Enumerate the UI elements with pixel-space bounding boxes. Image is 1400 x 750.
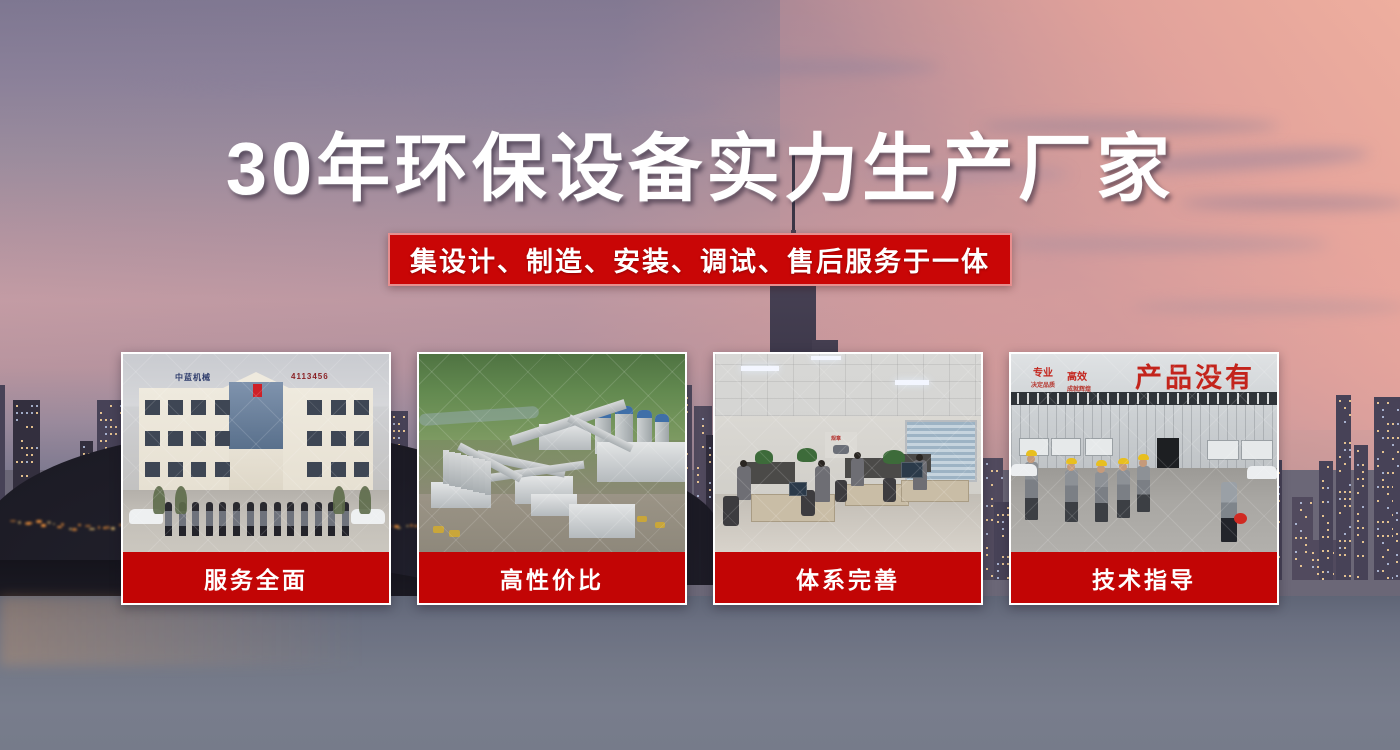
factory-window — [1051, 438, 1081, 456]
cloud — [420, 96, 720, 116]
card-caption-text: 体系完善 — [796, 561, 900, 595]
roof-rail — [1207, 393, 1209, 404]
street-light — [105, 526, 110, 529]
window-light — [1396, 575, 1398, 577]
window-light — [1397, 451, 1399, 453]
street-light — [111, 527, 115, 530]
window-light — [1349, 484, 1351, 486]
window-light — [1392, 472, 1394, 474]
window-light — [1322, 515, 1324, 517]
window-light — [1339, 400, 1341, 402]
staff-figure — [165, 502, 172, 536]
window-light — [1339, 491, 1341, 493]
window-light — [1300, 502, 1302, 504]
building-window — [168, 462, 183, 477]
window-light — [1387, 493, 1389, 495]
window-light — [36, 412, 38, 414]
window-light — [110, 433, 112, 435]
hard-hat — [1118, 458, 1129, 464]
roof-rail — [1267, 393, 1269, 404]
staff-figure — [315, 502, 322, 536]
street-light — [28, 522, 33, 525]
red-helmet — [1234, 513, 1247, 524]
window-light — [1396, 512, 1398, 514]
window-light — [1339, 498, 1341, 500]
roof-rail — [1087, 393, 1089, 404]
roof-rail — [1227, 393, 1229, 404]
window-light — [1377, 500, 1379, 502]
window-light — [1349, 442, 1351, 444]
window-light — [36, 447, 38, 449]
window-light — [1397, 409, 1399, 411]
office-desk — [845, 484, 909, 506]
hard-hat — [1026, 450, 1037, 456]
window-light — [1357, 534, 1359, 536]
window-light — [26, 454, 28, 456]
office-chair — [723, 496, 739, 526]
card-caption-bar: 技术指导 — [1011, 552, 1277, 603]
tree — [359, 486, 371, 514]
hard-hat — [1096, 460, 1107, 466]
window-light — [1327, 487, 1329, 489]
wall-plaque: 规章 — [825, 432, 857, 458]
river-reflection — [0, 596, 520, 666]
window-light — [1339, 512, 1341, 514]
office-worker — [737, 466, 751, 500]
window-light — [1327, 522, 1329, 524]
window-light — [1310, 502, 1312, 504]
office-desk — [901, 480, 969, 502]
plant-building — [569, 504, 635, 538]
window-light — [1344, 540, 1346, 542]
window-light — [1377, 521, 1379, 523]
roof-rail — [1247, 393, 1249, 404]
window-light — [1392, 458, 1394, 460]
roof-rail — [1147, 393, 1149, 404]
roof-rail — [1137, 393, 1139, 404]
card-caption-bar: 体系完善 — [715, 552, 981, 603]
office-chair — [883, 478, 896, 502]
window-light — [31, 454, 33, 456]
window-light — [1322, 550, 1324, 552]
roof-rail — [1237, 393, 1239, 404]
building-window — [215, 462, 230, 477]
window-light — [1387, 535, 1389, 537]
building-window — [168, 400, 183, 415]
window-light — [1382, 479, 1384, 481]
window-light — [31, 412, 33, 414]
window-light — [1387, 549, 1389, 551]
window-light — [1387, 437, 1389, 439]
building-window — [354, 462, 369, 477]
window-light — [1344, 505, 1346, 507]
tree — [153, 486, 165, 514]
window-light — [1349, 400, 1351, 402]
building-window — [191, 400, 206, 415]
window-light — [1397, 423, 1399, 425]
hard-hat — [1138, 454, 1149, 460]
building-window — [191, 431, 206, 446]
street-light — [98, 526, 100, 529]
window-light — [1357, 513, 1359, 515]
window-light — [1387, 423, 1389, 425]
window-light — [1396, 533, 1398, 535]
excavator — [637, 516, 647, 522]
window-light — [1382, 556, 1384, 558]
window-light — [1295, 523, 1297, 525]
window-light — [1349, 505, 1351, 507]
window-light — [1344, 449, 1346, 451]
staff-figure — [247, 502, 254, 536]
window-light — [1397, 437, 1399, 439]
window-light — [1300, 530, 1302, 532]
window-light — [1344, 407, 1346, 409]
window-light — [1382, 416, 1384, 418]
roof-rail — [1127, 393, 1129, 404]
silo-column — [485, 461, 491, 495]
window-light — [1382, 472, 1384, 474]
window-light — [1396, 540, 1398, 542]
window-light — [1344, 421, 1346, 423]
card-photo-headquarters: 中蓝机械 4113456 — [123, 354, 389, 552]
window-light — [1339, 456, 1341, 458]
building-window — [354, 400, 369, 415]
window-light — [1327, 529, 1329, 531]
window-light — [1322, 536, 1324, 538]
window-light — [1305, 544, 1307, 546]
window-light — [1387, 402, 1389, 404]
window-light — [105, 433, 107, 435]
factory-window — [1241, 440, 1273, 460]
window-light — [21, 475, 23, 477]
window-light — [26, 426, 28, 428]
window-light — [21, 461, 23, 463]
window-light — [1349, 575, 1351, 577]
factory-slogan-large: 产品没有 — [1135, 356, 1255, 395]
potted-plant — [755, 450, 773, 464]
window-light — [105, 426, 107, 428]
factory-window — [1207, 440, 1239, 460]
window-light — [1312, 552, 1314, 554]
window-light — [1392, 444, 1394, 446]
window-light — [1344, 442, 1346, 444]
building-window — [215, 400, 230, 415]
window-light — [1327, 536, 1329, 538]
building-window — [168, 431, 183, 446]
window-light — [1362, 506, 1364, 508]
window-light — [16, 405, 18, 407]
window-light — [1349, 414, 1351, 416]
cloud — [120, 70, 460, 88]
excavator — [655, 522, 665, 528]
card-caption-text: 技术指导 — [1092, 561, 1196, 595]
window-light — [1357, 492, 1359, 494]
feature-card-system[interactable]: 规章 体系完善 — [713, 352, 983, 605]
window-light — [1362, 527, 1364, 529]
street-light — [72, 528, 77, 531]
window-light — [16, 461, 18, 463]
window-light — [36, 405, 38, 407]
ceiling-light — [811, 356, 841, 360]
window-light — [1387, 486, 1389, 488]
worker-head — [1139, 459, 1147, 467]
flag — [253, 384, 262, 397]
roof-rail — [1107, 393, 1109, 404]
window-light — [1377, 402, 1379, 404]
worker-figure — [1137, 466, 1150, 512]
window-light — [1322, 571, 1324, 573]
window-light — [105, 440, 107, 442]
building-window — [307, 431, 322, 446]
ceiling-light — [895, 380, 929, 385]
window-light — [1344, 547, 1346, 549]
window-light — [1327, 557, 1329, 559]
roof-rail — [1077, 393, 1079, 404]
staff-figure — [233, 502, 240, 536]
window-light — [100, 440, 102, 442]
window-light — [1339, 470, 1341, 472]
roof-rail — [1047, 393, 1049, 404]
worker-head — [1097, 465, 1105, 473]
window-light — [1387, 507, 1389, 509]
feature-card-value[interactable]: 高性价比 — [417, 352, 687, 605]
window-light — [1387, 521, 1389, 523]
factory-window — [1085, 438, 1113, 456]
window-light — [105, 419, 107, 421]
window-light — [31, 426, 33, 428]
feature-card-service[interactable]: 中蓝机械 4113456 服务全面 — [121, 352, 391, 605]
window-light — [1322, 480, 1324, 482]
card-photo-training: 产品没有 专业 高效 决定品质 成就辉煌 — [1011, 354, 1277, 552]
window-light — [1344, 533, 1346, 535]
worker-figure — [1117, 470, 1130, 518]
window-light — [1344, 491, 1346, 493]
building — [1336, 395, 1351, 580]
worker-head — [740, 460, 747, 467]
staff-figure — [192, 502, 199, 536]
window-light — [26, 412, 28, 414]
worker-head — [1067, 463, 1075, 471]
building-window — [331, 431, 346, 446]
building — [1354, 445, 1369, 580]
window-light — [1377, 570, 1379, 572]
window-light — [1357, 520, 1359, 522]
ceiling-light — [741, 366, 779, 371]
building-window — [307, 462, 322, 477]
street-light — [61, 523, 63, 526]
window-light — [1382, 542, 1384, 544]
staff-figure — [287, 502, 294, 536]
factory-slogan-small-1: 专业 — [1033, 364, 1053, 379]
window-light — [1362, 555, 1364, 557]
window-light — [1382, 521, 1384, 523]
window-light — [1392, 423, 1394, 425]
window-light — [110, 419, 112, 421]
staff-figure — [274, 502, 281, 536]
window-light — [26, 447, 28, 449]
roof-rail — [1167, 393, 1169, 404]
window-light — [1322, 501, 1324, 503]
window-light — [1295, 551, 1297, 553]
window-light — [1344, 463, 1346, 465]
street-light — [41, 524, 46, 527]
window-light — [1362, 471, 1364, 473]
window-light — [31, 405, 33, 407]
window-light — [1357, 527, 1359, 529]
window-light — [1362, 464, 1364, 466]
window-light — [1344, 575, 1346, 577]
worker-figure — [1065, 470, 1078, 522]
window-light — [1362, 541, 1364, 543]
office-ceiling — [715, 354, 981, 416]
window-light — [1327, 550, 1329, 552]
street-light — [36, 520, 41, 523]
worker-head — [1119, 463, 1127, 471]
roof-rail — [1217, 393, 1219, 404]
computer-monitor — [789, 482, 807, 496]
window-light — [1377, 430, 1379, 432]
worker-head — [854, 452, 861, 459]
window-light — [1387, 472, 1389, 474]
office-chair — [835, 480, 847, 502]
parked-car — [1247, 466, 1277, 479]
building-window — [215, 431, 230, 446]
building-window — [145, 462, 160, 477]
building-window — [145, 431, 160, 446]
building-phone-text: 4113456 — [291, 372, 329, 381]
window-light — [1295, 537, 1297, 539]
staff-figure — [301, 502, 308, 536]
window-light — [1377, 486, 1379, 488]
building-sign-text: 中蓝机械 — [175, 372, 211, 383]
parked-car — [1011, 464, 1037, 476]
roof-rail — [1177, 393, 1179, 404]
window-light — [1349, 498, 1351, 500]
window-light — [1349, 456, 1351, 458]
window-light — [1397, 465, 1399, 467]
window-light — [1357, 450, 1359, 452]
window-light — [1339, 554, 1341, 556]
card-caption-text: 高性价比 — [500, 561, 604, 595]
window-light — [100, 419, 102, 421]
card-caption-text: 服务全面 — [204, 561, 308, 595]
worker-head — [818, 460, 825, 467]
plant-building — [597, 442, 685, 482]
window-light — [1305, 551, 1307, 553]
worker-figure — [1095, 472, 1108, 522]
window-light — [1387, 430, 1389, 432]
window-light — [31, 447, 33, 449]
building-window — [331, 400, 346, 415]
staff-figure — [260, 502, 267, 536]
office-worker — [851, 458, 864, 486]
excavator — [449, 530, 460, 537]
window-light — [1387, 577, 1389, 579]
roof-rail — [1157, 393, 1159, 404]
card-caption-bar: 服务全面 — [123, 552, 389, 603]
window-light — [1349, 449, 1351, 451]
building-window — [354, 431, 369, 446]
computer-monitor — [901, 462, 923, 478]
window-light — [1377, 465, 1379, 467]
window-light — [1382, 409, 1384, 411]
window-light — [1396, 554, 1398, 556]
window-light — [26, 475, 28, 477]
potted-plant — [797, 448, 817, 462]
building-window — [307, 400, 322, 415]
street-light — [18, 521, 21, 524]
banner-stage: 30年环保设备实力生产厂家 集设计、制造、安装、调试、售后服务于一体 中蓝机械 … — [0, 0, 1400, 750]
window-light — [1396, 519, 1398, 521]
card-photo-office: 规章 — [715, 354, 981, 552]
window-light — [83, 446, 85, 448]
building-window — [191, 462, 206, 477]
window-light — [1295, 558, 1297, 560]
staff-figure — [206, 502, 213, 536]
window-light — [31, 461, 33, 463]
window-light — [1300, 537, 1302, 539]
window-light — [1357, 576, 1359, 578]
excavator — [433, 526, 444, 533]
building-window — [331, 462, 346, 477]
window-light — [21, 447, 23, 449]
roof-rail — [1037, 393, 1039, 404]
window-light — [21, 412, 23, 414]
window-light — [1396, 561, 1398, 563]
roof-rail — [1067, 393, 1069, 404]
window-light — [1300, 509, 1302, 511]
factory-door — [1157, 438, 1179, 472]
tree — [333, 486, 345, 514]
subtitle-banner: 集设计、制造、安装、调试、售后服务于一体 — [388, 233, 1012, 286]
window-light — [1357, 464, 1359, 466]
window-light — [1382, 570, 1384, 572]
tree — [175, 486, 187, 514]
factory-slogan-small-2: 高效 — [1067, 368, 1087, 383]
window-light — [1377, 528, 1379, 530]
window-light — [1382, 451, 1384, 453]
window-light — [100, 412, 102, 414]
roof-rail — [1057, 393, 1059, 404]
roof-rail — [1197, 393, 1199, 404]
window-light — [1322, 487, 1324, 489]
window-light — [1392, 437, 1394, 439]
building — [1319, 461, 1333, 580]
window-light — [16, 412, 18, 414]
window-light — [1305, 537, 1307, 539]
feature-card-training[interactable]: 产品没有 专业 高效 决定品质 成就辉煌 技术指导 — [1009, 352, 1279, 605]
page-title: 30年环保设备实力生产厂家 — [0, 127, 1400, 211]
roof-rail — [1017, 393, 1019, 404]
supervisor-figure — [1221, 482, 1237, 542]
window-light — [1322, 578, 1324, 580]
window-light — [1349, 491, 1351, 493]
window-light — [1339, 540, 1341, 542]
building-window — [145, 400, 160, 415]
window-light — [110, 405, 112, 407]
window-light — [26, 461, 28, 463]
window-light — [1312, 559, 1314, 561]
window-light — [110, 426, 112, 428]
roof-rail — [1117, 393, 1119, 404]
window-light — [1305, 516, 1307, 518]
staff-figure — [219, 502, 226, 536]
factory-slogan-small-3: 决定品质 — [1031, 380, 1055, 389]
window-light — [1382, 535, 1384, 537]
card-caption-bar: 高性价比 — [419, 552, 685, 603]
street-light — [85, 525, 91, 528]
window-light — [1387, 563, 1389, 565]
